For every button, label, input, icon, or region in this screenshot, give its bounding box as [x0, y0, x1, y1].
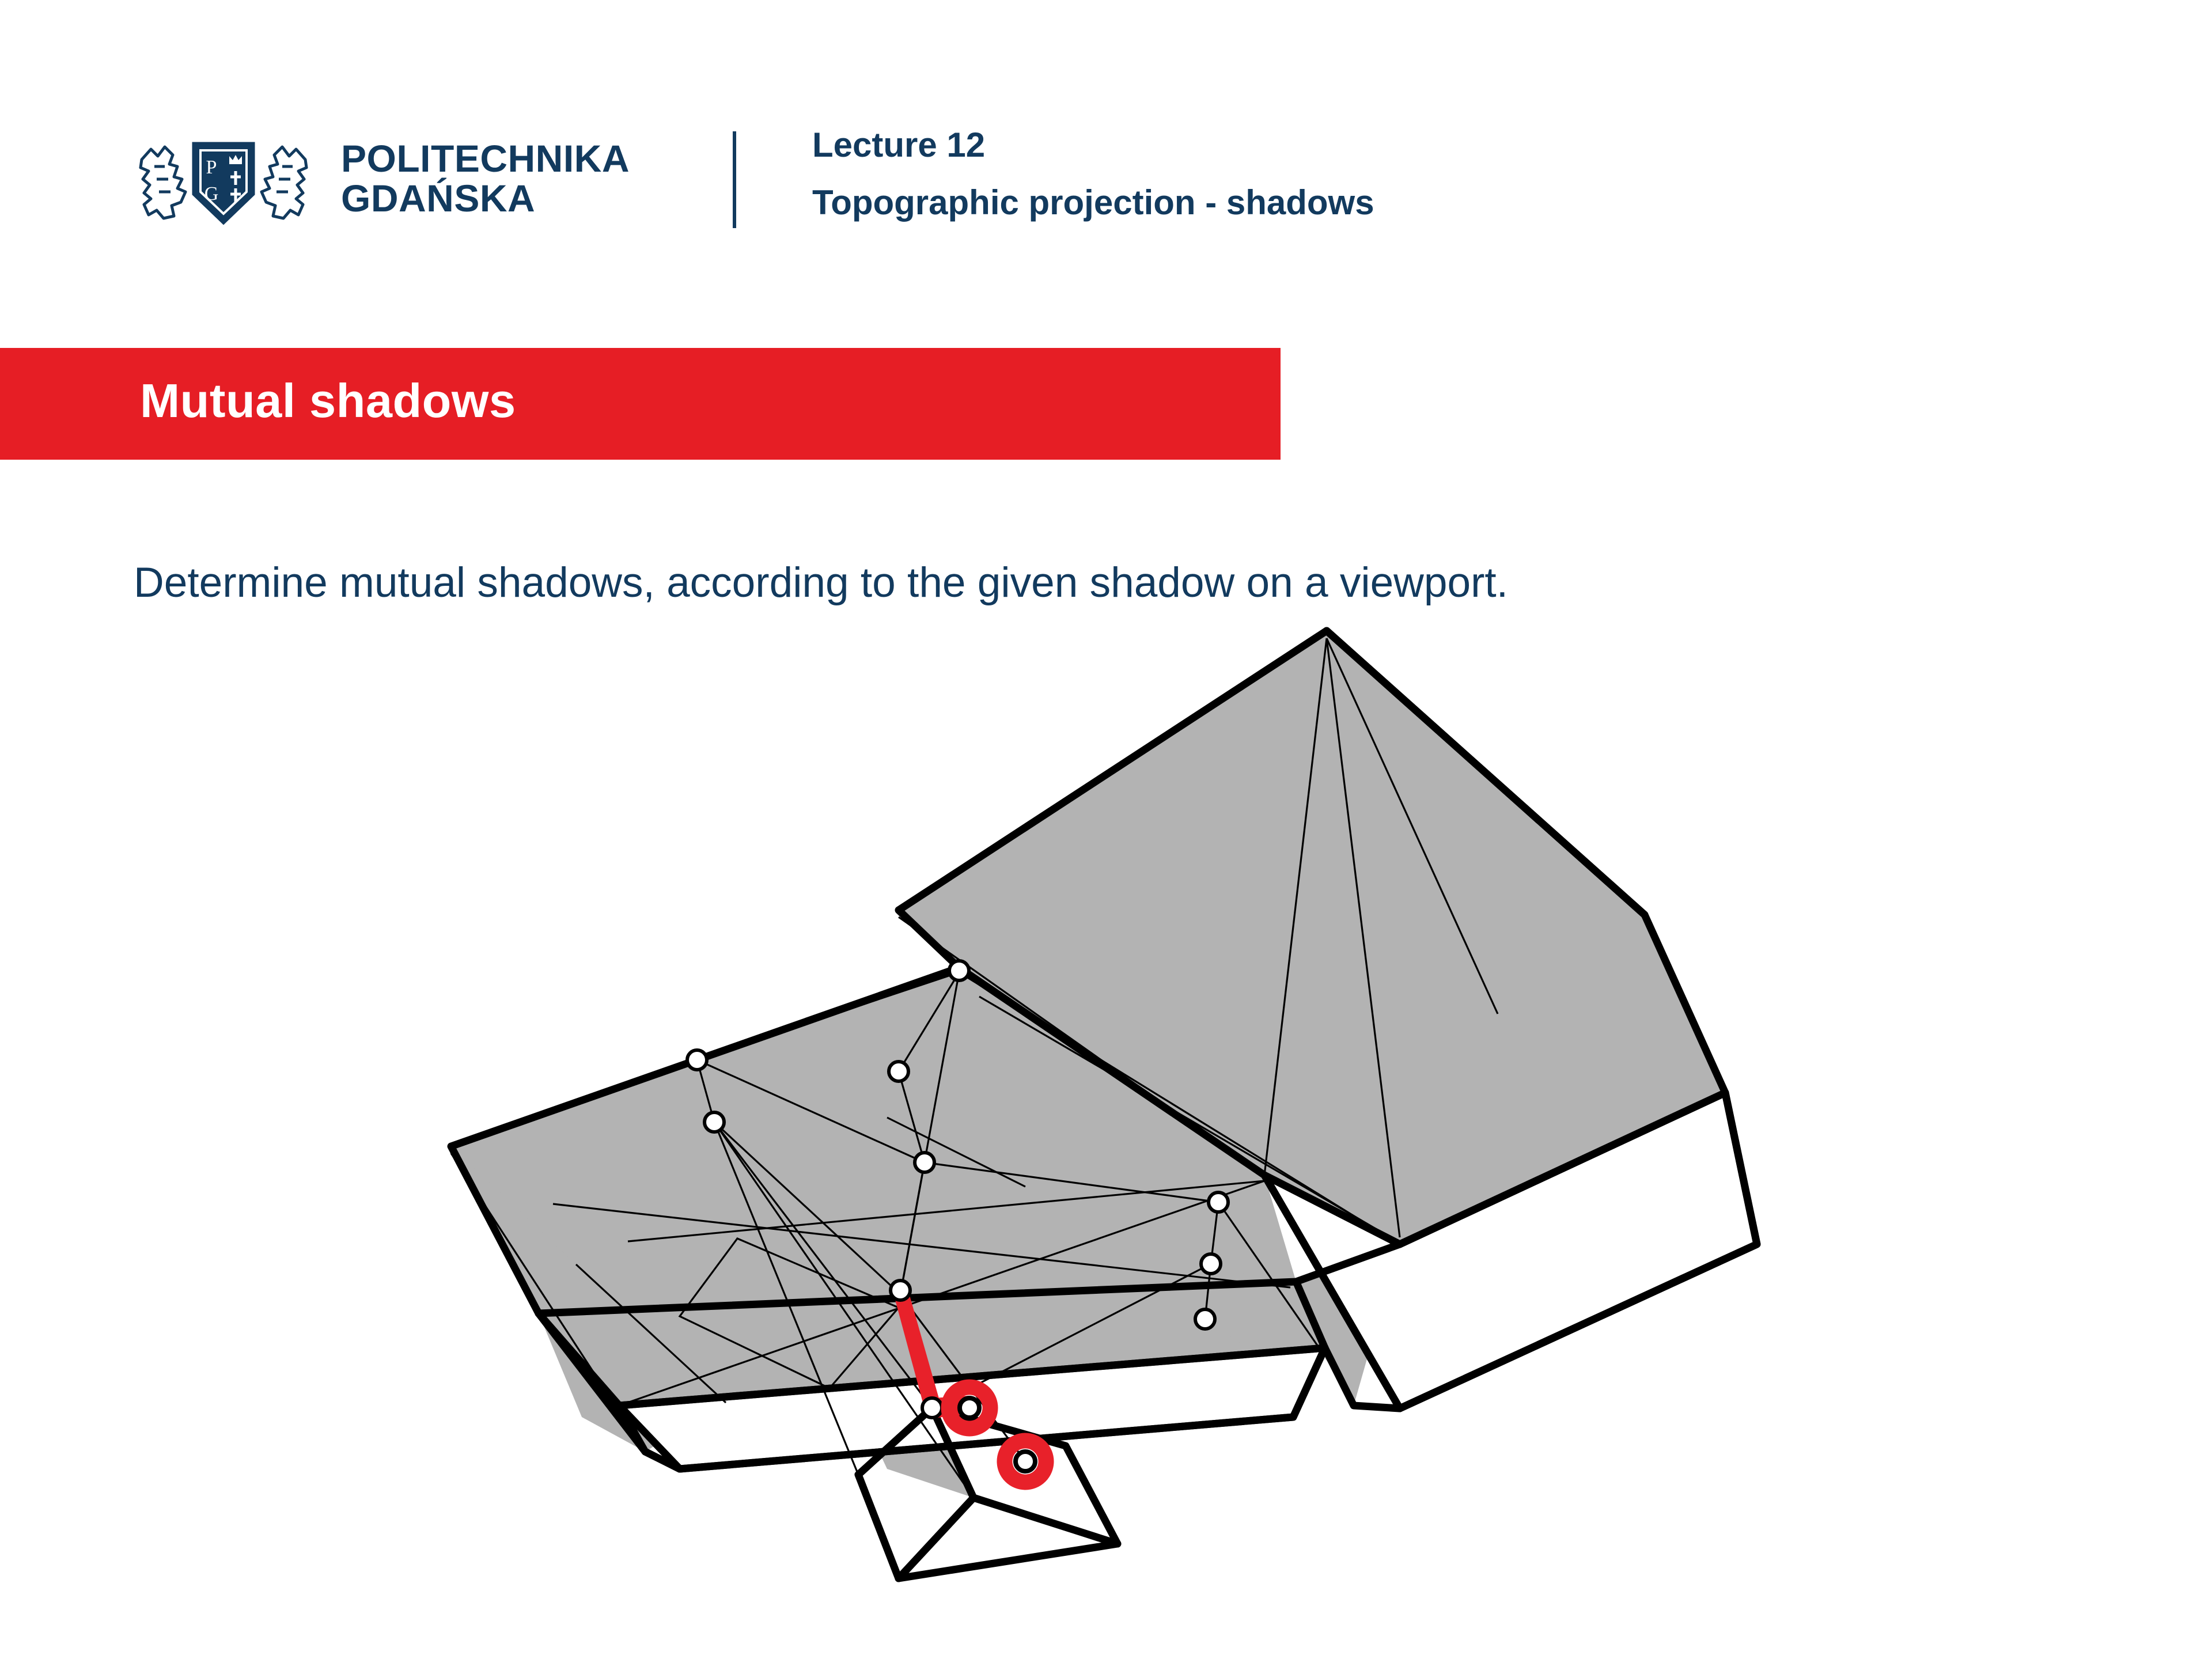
svg-text:G: G [204, 183, 219, 204]
marker-point[interactable] [949, 961, 969, 980]
header-title-block: Lecture 12 Topographic projection - shad… [812, 128, 1374, 220]
highlight-point-a[interactable] [949, 1387, 990, 1429]
marker-point[interactable] [889, 1062, 908, 1081]
pg-crest-icon: P G [131, 124, 316, 233]
lecture-number: Lecture 12 [812, 128, 1374, 162]
axonometric-shadow-diagram: .shade { fill:#B3B3B3; stroke:none; } .h… [0, 599, 2212, 1659]
slide-header: P G POLITECHNIKA GDAŃSKA Lecture 12 Topo… [0, 0, 2212, 300]
university-logo: P G POLITECHNIKA GDAŃSKA [131, 124, 630, 233]
marker-point[interactable] [704, 1112, 724, 1132]
marker-point[interactable] [915, 1153, 934, 1172]
instruction-text: Determine mutual shadows, according to t… [134, 562, 1508, 604]
marker-point[interactable] [687, 1050, 707, 1070]
highlight-point-b[interactable] [1005, 1441, 1046, 1482]
marker-point[interactable] [891, 1281, 910, 1300]
marker-point[interactable] [922, 1398, 942, 1418]
section-banner: Mutual shadows [0, 348, 1281, 460]
svg-text:P: P [206, 157, 217, 178]
section-title: Mutual shadows [140, 377, 516, 425]
marker-point[interactable] [1209, 1192, 1228, 1212]
university-wordmark: POLITECHNIKA GDAŃSKA [341, 139, 630, 218]
lecture-subject: Topographic projection - shadows [812, 185, 1374, 220]
figure-container: .shade { fill:#B3B3B3; stroke:none; } .h… [0, 599, 2212, 1659]
marker-point[interactable] [1195, 1309, 1215, 1329]
marker-point[interactable] [1201, 1254, 1221, 1274]
header-divider [733, 131, 736, 228]
